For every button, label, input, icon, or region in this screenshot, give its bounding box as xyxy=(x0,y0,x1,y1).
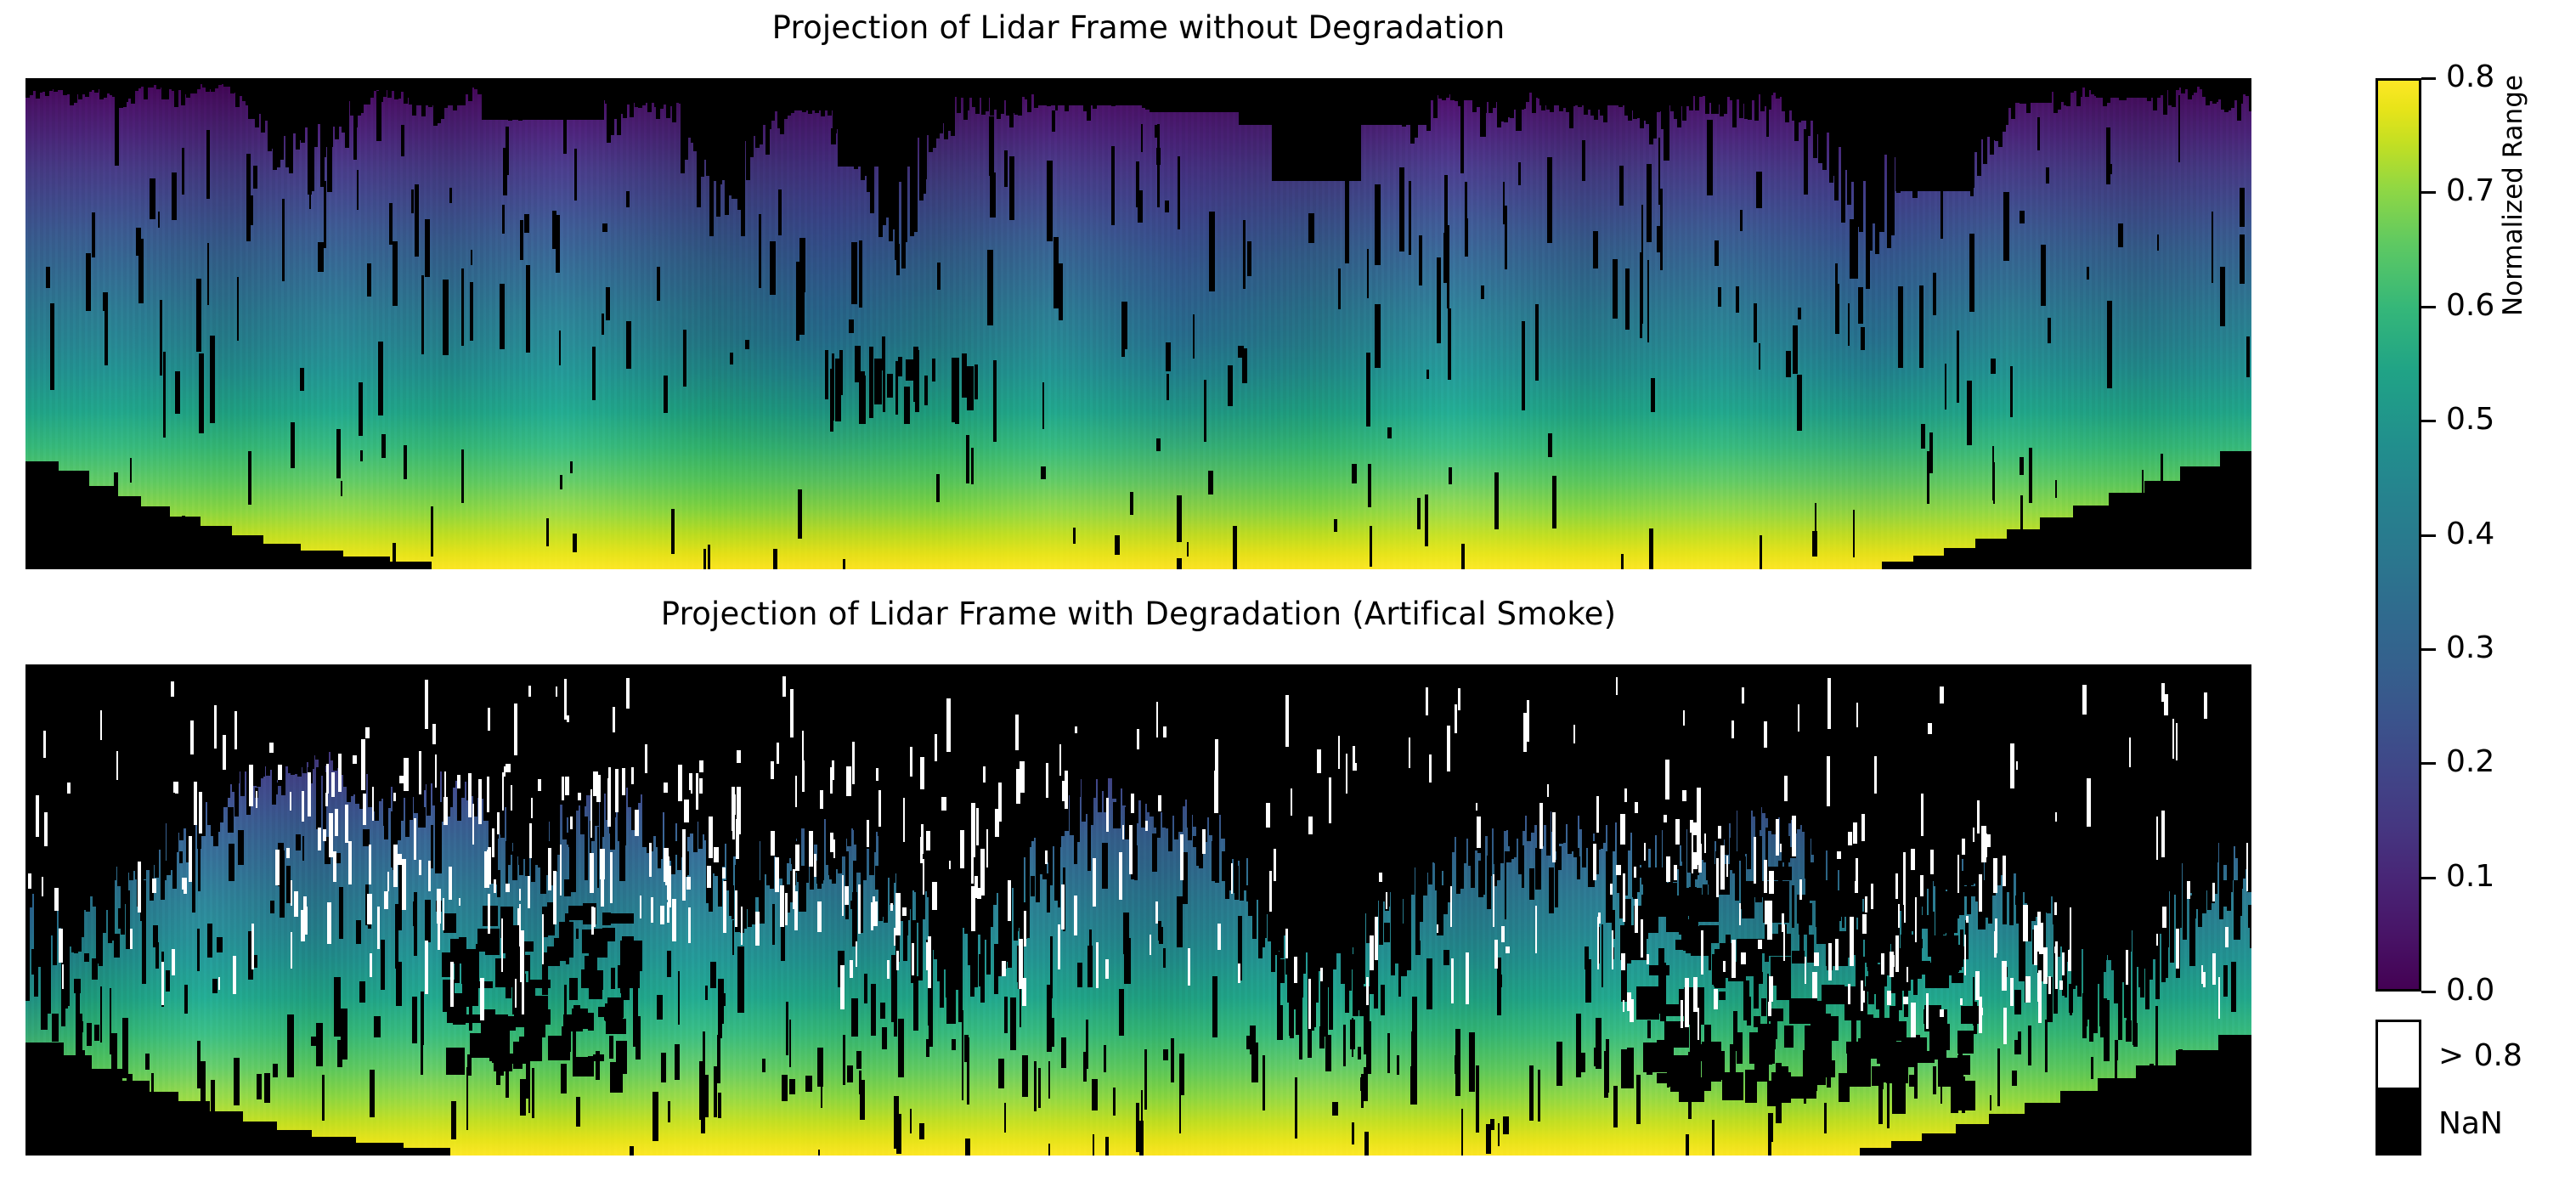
nan-pixel xyxy=(1105,1137,1109,1156)
nan-pixel xyxy=(2012,1071,2017,1086)
over-range-pixel xyxy=(912,943,914,975)
over-range-pixel xyxy=(1274,849,1276,881)
over-range-pixel xyxy=(43,731,46,758)
nan-pixel xyxy=(656,813,661,847)
over-range-pixel xyxy=(1379,873,1382,882)
nan-pixel xyxy=(609,1036,613,1059)
nan-pixel xyxy=(1647,1020,1651,1038)
over-range-pixel xyxy=(1621,953,1625,970)
nan-pixel xyxy=(1625,268,1630,330)
nan-pixel xyxy=(1871,826,1873,879)
over-range-pixel xyxy=(723,881,726,933)
nan-pixel xyxy=(61,819,64,828)
over-range-pixel xyxy=(1871,884,1873,909)
nan-pixel xyxy=(411,189,414,213)
nan-pixel xyxy=(573,534,577,552)
nan-pixel xyxy=(393,543,396,569)
nan-pixel xyxy=(92,958,98,980)
over-range-pixel xyxy=(506,884,510,892)
legend-swatches[interactable] xyxy=(2375,1020,2421,1156)
nan-pixel xyxy=(1538,1070,1540,1122)
nan-pixel xyxy=(896,244,900,275)
nan-pixel xyxy=(296,834,301,850)
nan-pixel xyxy=(524,1022,545,1037)
over-range-pixel xyxy=(2161,683,2165,702)
nan-pixel xyxy=(1585,946,1589,969)
nan-pixel xyxy=(1341,922,1345,984)
over-range-pixel xyxy=(2003,1008,2007,1044)
over-range-pixel xyxy=(2087,778,2091,827)
over-range-pixel xyxy=(1105,959,1109,979)
over-range-pixel xyxy=(1547,784,1549,797)
nan-pixel xyxy=(246,154,251,241)
nan-pixel xyxy=(318,242,324,272)
nan-pixel xyxy=(524,214,529,233)
colorbar-tick xyxy=(2421,77,2436,80)
over-range-pixel xyxy=(325,793,328,806)
colorbar-axis-label: Normalized Range xyxy=(2498,25,2528,365)
over-range-pixel xyxy=(1921,794,1924,836)
over-range-pixel xyxy=(688,907,691,943)
nan-pixel xyxy=(2189,896,2195,967)
over-range-pixel xyxy=(2082,685,2087,715)
nan-pixel xyxy=(1367,249,1369,298)
over-range-pixel xyxy=(345,805,348,839)
over-range-pixel xyxy=(709,817,713,858)
nan-pixel xyxy=(568,906,585,920)
nan-pixel xyxy=(401,125,404,156)
nan-pixel xyxy=(2109,493,2150,569)
nan-pixel xyxy=(216,829,218,846)
over-range-pixel xyxy=(1714,989,1718,1009)
nan-pixel xyxy=(1593,231,1598,268)
nan-pixel xyxy=(1171,1038,1174,1082)
nan-pixel xyxy=(1641,205,1643,256)
nan-pixel xyxy=(136,228,141,256)
nan-pixel xyxy=(1863,1030,1870,1064)
nan-pixel xyxy=(1914,1048,1918,1099)
nan-pixel xyxy=(201,1061,206,1101)
over-range-pixel xyxy=(1317,749,1321,773)
nan-pixel xyxy=(1824,880,1833,893)
nan-pixel xyxy=(2025,1103,2066,1156)
nan-pixel xyxy=(1360,1077,1363,1091)
over-range-pixel xyxy=(1903,997,1908,1004)
nan-pixel xyxy=(708,545,710,569)
nan-pixel xyxy=(1042,382,1044,429)
nan-pixel xyxy=(1460,98,1464,173)
nan-pixel xyxy=(773,549,777,569)
nan-pixel xyxy=(1478,861,1483,897)
over-range-pixel xyxy=(326,764,329,794)
nan-pixel xyxy=(565,913,568,924)
nan-pixel xyxy=(310,1137,356,1156)
nan-pixel xyxy=(334,977,341,1037)
nan-pixel xyxy=(229,844,234,881)
nan-pixel xyxy=(1399,836,1404,887)
nan-pixel xyxy=(1248,861,1253,916)
nan-pixel xyxy=(1754,1056,1769,1082)
nan-pixel xyxy=(1619,166,1624,206)
colorbar-tick xyxy=(2421,991,2436,993)
over-range-pixel xyxy=(361,739,365,790)
colorbar-tick-label: 0.7 xyxy=(2446,176,2494,206)
over-range-pixel xyxy=(615,769,619,812)
nan-pixel xyxy=(1992,446,1994,500)
nan-pixel xyxy=(226,535,263,569)
nan-pixel xyxy=(1009,156,1014,220)
nan-pixel xyxy=(2246,336,2250,377)
over-range-pixel xyxy=(1973,828,1974,842)
over-range-pixel xyxy=(384,891,388,909)
nan-pixel xyxy=(1643,992,1654,1003)
nan-pixel xyxy=(370,1070,375,1117)
over-range-pixel xyxy=(2016,761,2018,770)
over-range-pixel xyxy=(782,676,786,697)
nan-pixel xyxy=(1234,822,1237,843)
nan-pixel xyxy=(596,1051,600,1080)
over-range-pixel xyxy=(852,742,855,784)
nan-pixel xyxy=(1693,918,1698,956)
nan-pixel xyxy=(926,1039,929,1057)
nan-pixel xyxy=(1299,993,1302,1060)
over-range-pixel xyxy=(1855,881,1858,893)
nan-pixel xyxy=(851,998,858,1037)
over-range-pixel xyxy=(515,979,517,1008)
nan-pixel xyxy=(1041,466,1046,479)
nan-pixel xyxy=(393,241,398,306)
nan-pixel xyxy=(2060,1091,2104,1156)
nan-pixel xyxy=(526,265,530,353)
nan-pixel xyxy=(1737,1032,1743,1064)
nan-pixel xyxy=(1771,957,1790,986)
over-range-pixel xyxy=(233,956,236,994)
nan-pixel xyxy=(2087,267,2089,280)
over-range-pixel xyxy=(1616,865,1621,875)
over-range-pixel xyxy=(593,771,598,796)
nan-pixel xyxy=(611,913,634,924)
nan-pixel xyxy=(732,885,734,919)
over-range-pixel xyxy=(1215,739,1218,792)
over-range-pixel xyxy=(755,912,760,946)
over-range-pixel xyxy=(1501,926,1505,942)
heatmap-with-degradation[interactable] xyxy=(25,664,2251,1156)
over-range-pixel xyxy=(130,929,133,949)
over-range-pixel xyxy=(809,831,813,867)
over-range-pixel xyxy=(529,823,532,858)
nan-pixel xyxy=(238,830,244,865)
over-range-pixel xyxy=(840,965,845,1009)
over-range-pixel xyxy=(795,845,799,871)
over-range-pixel xyxy=(478,779,482,824)
nan-pixel xyxy=(994,850,998,883)
over-range-pixel xyxy=(522,961,524,1014)
over-range-pixel xyxy=(1701,930,1703,975)
nan-pixel xyxy=(1505,206,1507,269)
nan-pixel xyxy=(1761,998,1766,1016)
nan-pixel xyxy=(257,1074,262,1099)
over-range-pixel xyxy=(2054,946,2056,953)
over-range-pixel xyxy=(1720,845,1725,890)
nan-pixel xyxy=(1426,958,1432,1009)
nan-pixel xyxy=(237,277,239,341)
over-range-pixel xyxy=(1865,896,1867,913)
over-range-pixel xyxy=(1552,812,1556,862)
over-range-pixel xyxy=(591,907,594,935)
nan-pixel xyxy=(90,839,96,862)
nan-pixel xyxy=(150,178,155,219)
nan-pixel xyxy=(446,1048,465,1075)
nan-pixel xyxy=(898,357,902,376)
nan-pixel xyxy=(1004,1103,1006,1133)
over-range-pixel xyxy=(949,861,951,869)
nan-pixel xyxy=(1150,78,1239,112)
colorbar-tick-label: 0.6 xyxy=(2446,291,2494,321)
nan-pixel xyxy=(1209,212,1215,291)
over-range-pixel xyxy=(1426,687,1428,715)
over-range-pixel xyxy=(794,891,798,930)
nan-pixel xyxy=(2094,913,2099,924)
nan-pixel xyxy=(2046,167,2049,184)
nan-pixel xyxy=(359,382,363,436)
over-range-pixel xyxy=(511,785,512,811)
over-range-pixel xyxy=(651,897,653,923)
nan-pixel xyxy=(1726,935,1731,946)
nan-pixel xyxy=(1783,836,1790,862)
nan-pixel xyxy=(710,962,716,988)
nan-pixel xyxy=(1017,833,1023,875)
nan-pixel xyxy=(952,358,959,422)
nan-pixel xyxy=(894,972,897,1037)
nan-pixel xyxy=(1461,1109,1463,1156)
nan-pixel xyxy=(1121,337,1125,357)
nan-pixel xyxy=(2120,957,2122,1020)
nan-pixel xyxy=(1879,996,1882,1039)
nan-pixel xyxy=(1437,257,1441,343)
over-range-pixel xyxy=(890,903,893,911)
over-range-pixel xyxy=(2187,881,2190,899)
nan-pixel xyxy=(2005,812,2010,831)
nan-pixel xyxy=(1155,125,1159,138)
nan-pixel xyxy=(1851,1017,1856,1055)
colorbar-tick xyxy=(2421,534,2436,537)
nan-pixel xyxy=(921,122,926,194)
nan-pixel xyxy=(1352,1122,1354,1144)
nan-pixel xyxy=(381,940,385,990)
over-range-pixel xyxy=(699,778,703,794)
over-range-pixel xyxy=(2002,961,2007,991)
nan-pixel xyxy=(705,986,708,1000)
over-range-pixel xyxy=(867,820,869,847)
nan-pixel xyxy=(718,1093,721,1118)
nan-pixel xyxy=(359,981,365,1003)
over-range-pixel xyxy=(1061,884,1065,930)
nan-pixel xyxy=(621,953,624,1018)
nan-pixel xyxy=(2045,1020,2048,1072)
over-range-pixel xyxy=(1835,939,1839,970)
nan-pixel xyxy=(1568,823,1572,850)
nan-pixel xyxy=(2231,962,2236,1012)
over-range-pixel xyxy=(1776,819,1779,856)
over-range-pixel xyxy=(1862,914,1867,934)
nan-pixel xyxy=(924,376,928,405)
over-range-pixel xyxy=(2161,811,2165,857)
over-range-pixel xyxy=(1784,776,1788,801)
nan-pixel xyxy=(2029,448,2032,503)
nan-pixel xyxy=(606,287,610,320)
over-range-pixel xyxy=(1370,935,1374,970)
nan-pixel xyxy=(678,971,680,1025)
nan-pixel xyxy=(864,974,867,1003)
nan-pixel xyxy=(2003,192,2009,261)
nan-pixel xyxy=(1518,162,1521,185)
over-range-pixel xyxy=(1093,858,1096,907)
nan-pixel xyxy=(259,544,301,569)
over-range-pixel xyxy=(538,779,541,791)
over-range-pixel xyxy=(928,936,931,988)
over-range-pixel xyxy=(278,765,282,780)
nan-pixel xyxy=(381,434,386,458)
nan-pixel xyxy=(564,985,567,1019)
nan-pixel xyxy=(1715,240,1719,266)
nan-pixel xyxy=(952,1039,956,1050)
nan-pixel xyxy=(1933,1066,1936,1094)
nan-pixel xyxy=(987,250,993,325)
over-range-pixel xyxy=(323,829,326,841)
nan-pixel xyxy=(1759,343,1760,370)
over-range-pixel xyxy=(199,792,202,833)
over-range-pixel xyxy=(1848,984,1850,1004)
nan-pixel xyxy=(1465,218,1468,257)
over-range-pixel xyxy=(1505,946,1510,953)
over-range-pixel xyxy=(1429,754,1432,783)
nan-pixel xyxy=(1892,1076,1906,1114)
nan-pixel xyxy=(932,359,935,381)
nan-pixel xyxy=(1002,850,1007,900)
over-range-pixel xyxy=(1993,858,1997,893)
over-range-pixel xyxy=(1455,704,1457,733)
nan-pixel xyxy=(311,1037,316,1046)
nan-pixel xyxy=(2142,470,2144,497)
over-range-pixel xyxy=(294,891,298,917)
over-range-pixel xyxy=(1058,924,1060,969)
over-range-pixel xyxy=(1741,952,1746,964)
over-range-pixel xyxy=(450,962,454,1007)
nan-pixel xyxy=(476,944,494,952)
nan-pixel xyxy=(145,1054,150,1070)
nan-pixel xyxy=(560,475,562,489)
nan-pixel xyxy=(341,481,342,496)
over-range-pixel xyxy=(772,833,774,850)
nan-pixel xyxy=(1134,845,1138,880)
nan-pixel xyxy=(1712,954,1716,985)
nan-pixel xyxy=(770,241,776,295)
over-range-pixel xyxy=(1291,788,1292,816)
heatmap-without-degradation[interactable] xyxy=(25,78,2251,569)
nan-pixel xyxy=(1111,146,1115,225)
nan-pixel xyxy=(1768,1124,1771,1156)
over-range-pixel xyxy=(404,758,409,791)
nan-pixel xyxy=(500,1016,516,1031)
over-range-pixel xyxy=(878,790,881,827)
colorbar-tick-label: 0.2 xyxy=(2446,747,2494,777)
nan-pixel xyxy=(946,964,952,1025)
nan-pixel xyxy=(1784,1026,1794,1048)
nan-pixel xyxy=(270,1130,312,1156)
over-range-pixel xyxy=(1895,935,1899,972)
nan-pixel xyxy=(569,978,578,1000)
over-range-pixel xyxy=(2176,929,2179,969)
over-range-pixel xyxy=(946,698,951,752)
over-range-pixel xyxy=(2068,950,2071,971)
over-range-pixel xyxy=(1856,703,1858,727)
nan-pixel xyxy=(1379,813,1385,874)
nan-pixel xyxy=(825,350,828,399)
over-range-pixel xyxy=(1915,897,1917,942)
over-range-pixel xyxy=(560,845,562,896)
over-range-pixel xyxy=(1494,940,1498,969)
over-range-pixel xyxy=(428,861,431,891)
nan-pixel xyxy=(74,979,81,993)
colorbar-tick-label: 0.8 xyxy=(2446,62,2494,93)
nan-pixel xyxy=(799,285,805,335)
over-range-pixel xyxy=(696,773,698,810)
nan-pixel xyxy=(796,262,799,341)
nan-pixel xyxy=(503,148,507,195)
nan-pixel xyxy=(324,181,326,248)
nan-pixel xyxy=(1193,314,1195,359)
over-range-pixel xyxy=(1596,796,1599,833)
over-range-pixel xyxy=(737,750,741,763)
nan-pixel xyxy=(874,359,882,404)
nan-pixel xyxy=(597,970,603,990)
nan-pixel xyxy=(1793,325,1798,374)
over-range-pixel xyxy=(1641,919,1643,958)
over-range-pixel xyxy=(1096,942,1099,988)
nan-pixel xyxy=(1703,884,1708,922)
over-range-pixel xyxy=(333,857,336,866)
nan-pixel xyxy=(1640,252,1643,324)
over-range-pixel xyxy=(1861,814,1865,841)
colorbar[interactable] xyxy=(2375,78,2421,992)
nan-pixel xyxy=(1177,495,1182,542)
nan-pixel xyxy=(217,937,223,952)
nan-pixel xyxy=(772,904,775,945)
nan-pixel xyxy=(1804,1057,1806,1104)
over-range-pixel xyxy=(502,772,504,811)
nan-pixel xyxy=(856,1051,861,1069)
over-range-pixel xyxy=(398,854,402,865)
nan-pixel xyxy=(118,908,121,929)
nan-pixel xyxy=(1582,140,1585,181)
nan-pixel xyxy=(966,435,969,483)
over-range-pixel xyxy=(399,776,404,783)
nan-pixel xyxy=(1782,1075,1784,1094)
over-range-pixel xyxy=(161,962,164,1005)
nan-pixel xyxy=(570,461,573,473)
nan-pixel xyxy=(2155,892,2161,918)
nan-pixel xyxy=(2020,457,2024,475)
nan-pixel xyxy=(838,108,916,167)
nan-pixel xyxy=(667,951,671,977)
nan-pixel xyxy=(2122,906,2125,935)
nan-pixel xyxy=(114,472,118,519)
over-range-pixel xyxy=(553,871,556,924)
nan-pixel xyxy=(2061,929,2065,938)
over-range-pixel xyxy=(2203,972,2206,987)
nan-pixel xyxy=(559,331,561,365)
over-range-pixel xyxy=(842,875,844,916)
